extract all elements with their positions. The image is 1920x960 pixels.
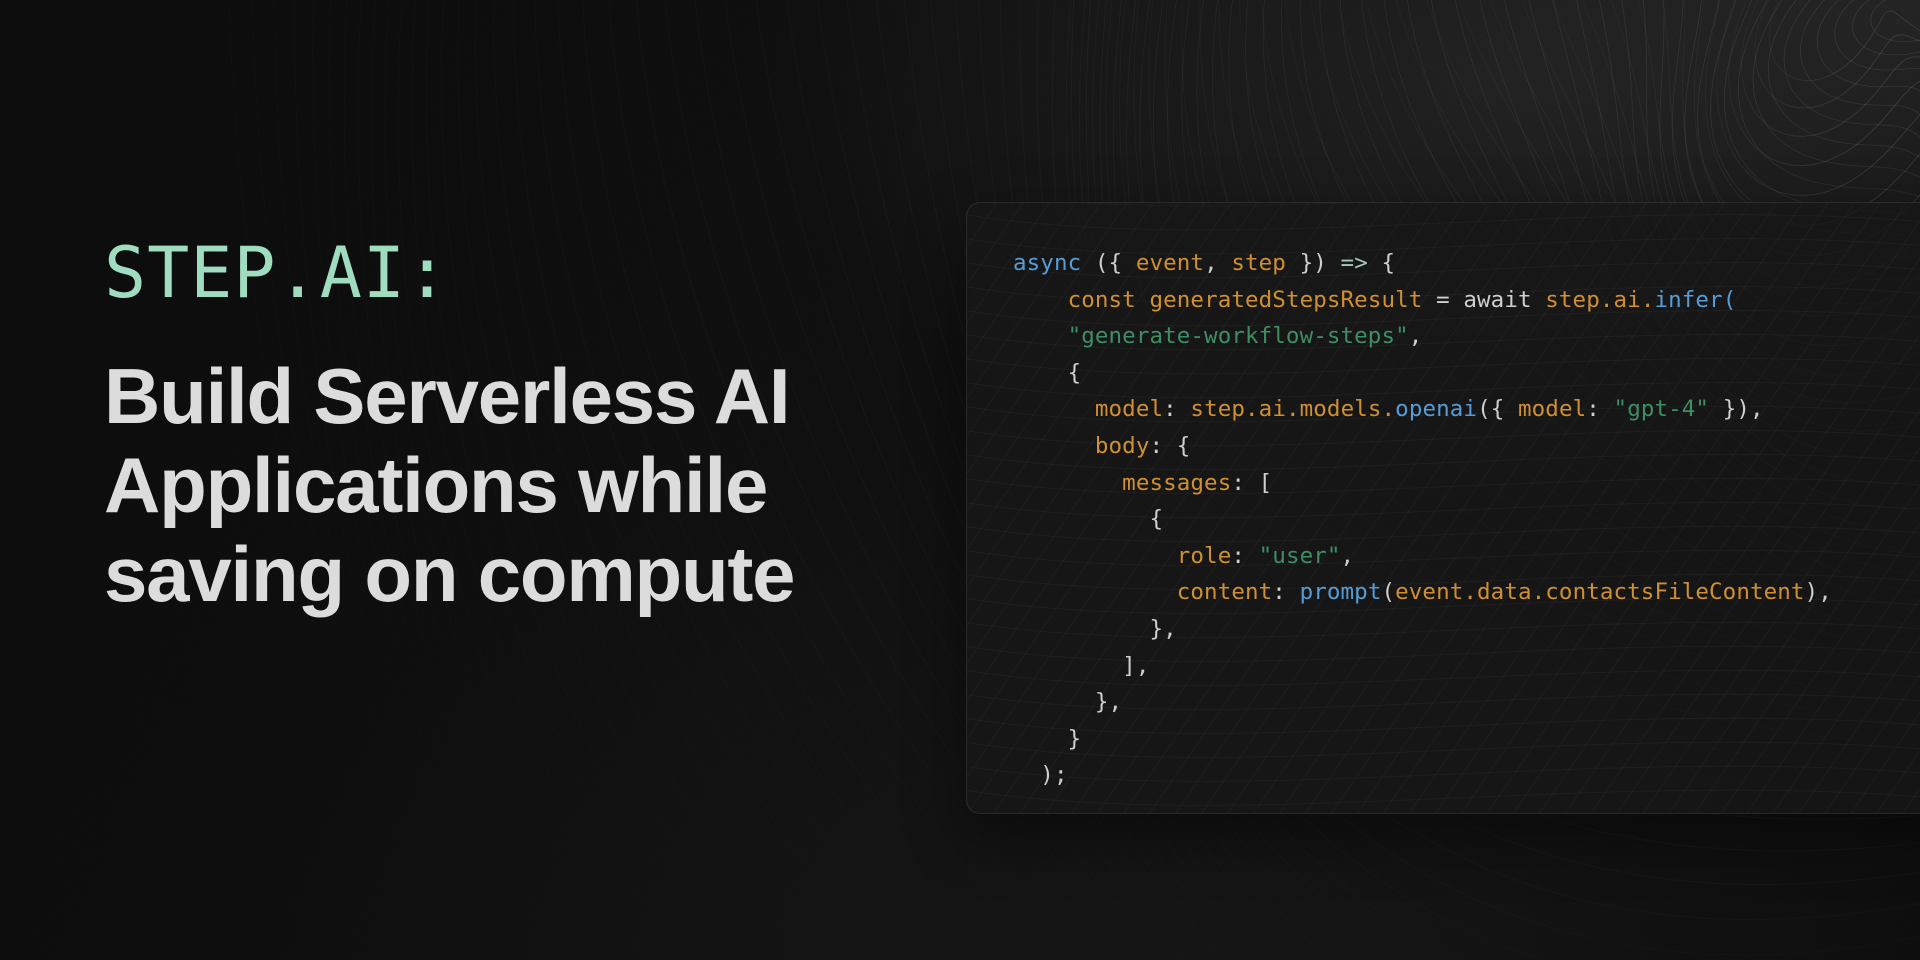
headline-line: Applications while	[104, 441, 904, 530]
code-token: async	[1013, 250, 1081, 276]
code-token: prompt	[1300, 579, 1382, 605]
code-block: async ({ event, step }) => { const gener…	[1013, 245, 1920, 794]
code-token: : [	[1231, 470, 1272, 496]
code-line: model: step.ai.models.openai({ model: "g…	[1013, 396, 1764, 422]
code-token	[1532, 287, 1546, 313]
code-line: messages: [	[1013, 470, 1272, 496]
hero-copy: STEP.AI: Build Serverless AIApplications…	[104, 238, 924, 619]
headline-line: saving on compute	[104, 530, 904, 619]
code-token: }	[1013, 726, 1081, 752]
code-token: generatedStepsResult	[1149, 287, 1422, 313]
code-snippet-panel: async ({ event, step }) => { const gener…	[966, 202, 1920, 814]
headline-line: Build Serverless AI	[104, 352, 904, 441]
code-token: openai	[1395, 396, 1477, 422]
code-token: model	[1518, 396, 1586, 422]
code-token: step	[1231, 250, 1286, 276]
code-token: ],	[1013, 653, 1149, 679]
code-token: {	[1013, 360, 1081, 386]
code-token	[1013, 433, 1095, 459]
code-token: body	[1095, 433, 1150, 459]
code-token: "gpt-4"	[1614, 396, 1710, 422]
code-line: role: "user",	[1013, 543, 1354, 569]
code-token: role	[1177, 543, 1232, 569]
hero-banner: STEP.AI: Build Serverless AIApplications…	[0, 0, 1920, 960]
code-token: =>	[1341, 250, 1368, 276]
code-token: : {	[1149, 433, 1190, 459]
code-token: :	[1586, 396, 1613, 422]
code-token: data	[1477, 579, 1532, 605]
code-token: ({	[1477, 396, 1518, 422]
code-token: event	[1395, 579, 1463, 605]
code-token: ai	[1259, 396, 1286, 422]
code-token: contactsFileContent	[1545, 579, 1804, 605]
code-token: .	[1463, 579, 1477, 605]
code-token: step	[1190, 396, 1245, 422]
code-token: content	[1177, 579, 1273, 605]
code-token: step	[1545, 287, 1600, 313]
code-token	[1013, 579, 1177, 605]
code-line: {	[1013, 506, 1163, 532]
code-token: .	[1532, 579, 1546, 605]
code-token: "user"	[1259, 543, 1341, 569]
code-line: },	[1013, 689, 1122, 715]
code-token: },	[1013, 689, 1122, 715]
code-line: }	[1013, 726, 1081, 752]
code-line: ],	[1013, 653, 1149, 679]
code-token: :	[1272, 579, 1299, 605]
code-token: },	[1013, 616, 1177, 642]
code-token: ,	[1204, 250, 1231, 276]
code-token: await	[1463, 287, 1531, 313]
eyebrow-label: STEP.AI:	[104, 238, 924, 308]
code-token: ai	[1614, 287, 1641, 313]
code-line: body: {	[1013, 433, 1190, 459]
code-token: models	[1300, 396, 1382, 422]
code-line: content: prompt(event.data.contactsFileC…	[1013, 579, 1832, 605]
code-token: ,	[1409, 323, 1423, 349]
code-token	[1013, 323, 1068, 349]
code-token	[1013, 470, 1122, 496]
code-line: },	[1013, 616, 1177, 642]
code-token: .	[1641, 287, 1655, 313]
code-token: {	[1013, 506, 1163, 532]
code-token	[1013, 287, 1068, 313]
code-line: {	[1013, 360, 1081, 386]
code-token	[1136, 287, 1150, 313]
code-token: .	[1600, 287, 1614, 313]
code-token: .	[1286, 396, 1300, 422]
code-token: })	[1286, 250, 1341, 276]
code-token: :	[1163, 396, 1190, 422]
code-line: "generate-workflow-steps",	[1013, 323, 1422, 349]
code-token: =	[1422, 287, 1463, 313]
code-token: (	[1381, 579, 1395, 605]
code-token: .	[1245, 396, 1259, 422]
code-token: :	[1231, 543, 1258, 569]
code-token	[1013, 543, 1177, 569]
code-token: {	[1109, 250, 1136, 276]
code-token: ,	[1341, 543, 1355, 569]
code-token: event	[1136, 250, 1204, 276]
code-line: const generatedStepsResult = await step.…	[1013, 287, 1736, 313]
page-title: Build Serverless AIApplications whilesav…	[104, 352, 904, 619]
code-token: (	[1081, 250, 1108, 276]
code-token: "generate-workflow-steps"	[1068, 323, 1409, 349]
code-token	[1013, 396, 1095, 422]
code-token: const	[1068, 287, 1136, 313]
code-token: messages	[1122, 470, 1231, 496]
code-token: ),	[1805, 579, 1832, 605]
code-token: model	[1095, 396, 1163, 422]
code-token: {	[1368, 250, 1395, 276]
code-token: );	[1013, 762, 1068, 788]
code-token: .	[1382, 396, 1396, 422]
code-line: async ({ event, step }) => {	[1013, 250, 1395, 276]
code-token: infer	[1654, 287, 1722, 313]
code-scroll-area[interactable]: async ({ event, step }) => { const gener…	[967, 203, 1920, 814]
code-token: }),	[1709, 396, 1764, 422]
code-token: (	[1723, 287, 1737, 313]
code-line: );	[1013, 762, 1068, 788]
